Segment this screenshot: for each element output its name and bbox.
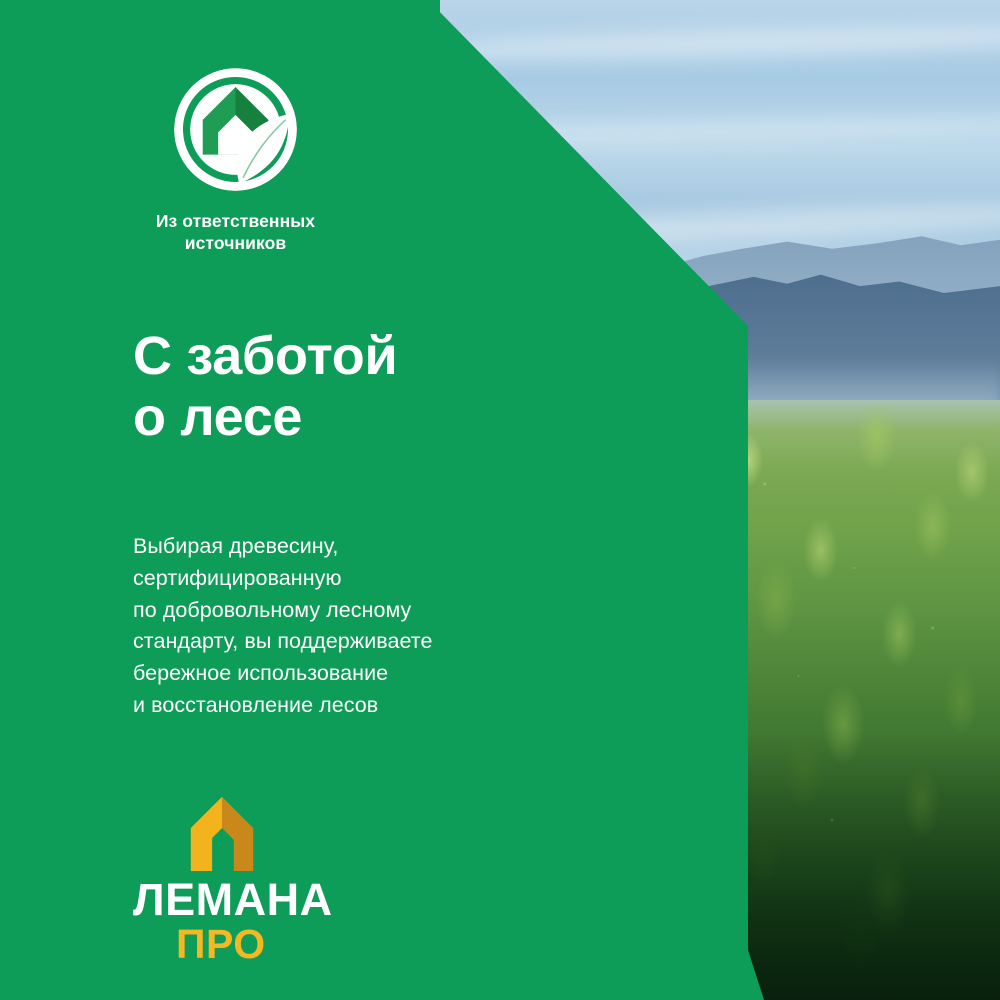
- brand-name: ЛЕМАНА: [133, 877, 333, 922]
- brand-subname: ПРО: [176, 924, 333, 965]
- house-roof-icon: [173, 795, 271, 873]
- brand-lockup: ЛЕМАНА ПРО: [133, 795, 333, 965]
- page-title: С заботой о лесе: [133, 326, 397, 448]
- banner-content: Из ответственных источников С заботой о …: [0, 0, 1000, 1000]
- promo-banner: Из ответственных источников С заботой о …: [0, 0, 1000, 1000]
- certification-caption: Из ответственных источников: [133, 211, 338, 254]
- body-description: Выбирая древесину, сертифицированную по …: [133, 531, 432, 722]
- house-leaf-circle-icon: [168, 62, 303, 197]
- certification-badge: Из ответственных источников: [133, 62, 338, 254]
